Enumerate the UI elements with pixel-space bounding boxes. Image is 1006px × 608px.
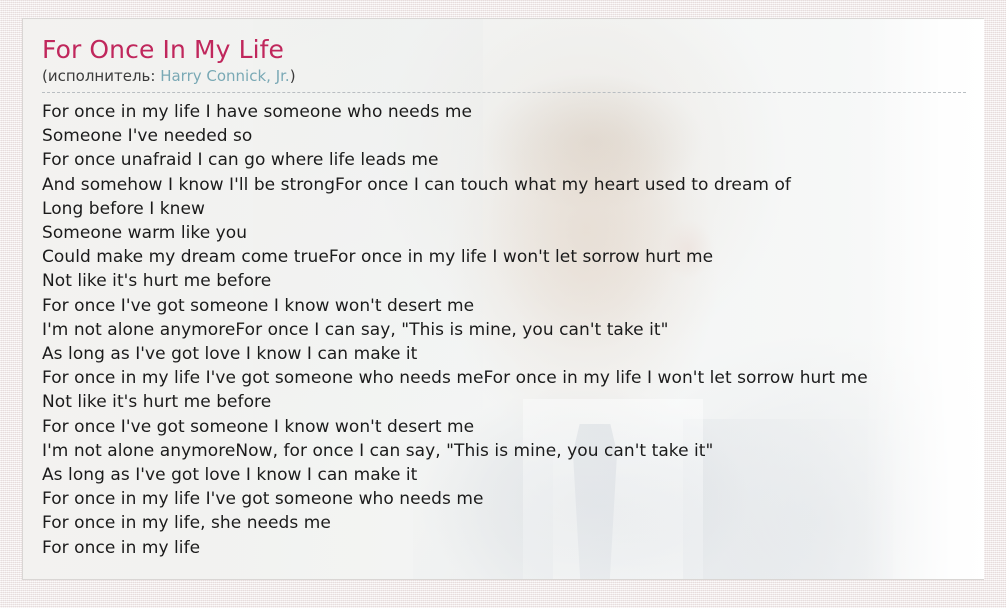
lyric-line: I'm not alone anymoreNow, for once I can… bbox=[42, 439, 984, 463]
lyrics-body: For once in my life I have someone who n… bbox=[42, 100, 984, 560]
lyric-line: Could make my dream come trueFor once in… bbox=[42, 245, 984, 269]
lyric-line: For once unafraid I can go where life le… bbox=[42, 148, 984, 172]
lyric-line: Not like it's hurt me before bbox=[42, 390, 984, 414]
song-header: For Once In My Life (исполнитель: Harry … bbox=[42, 35, 984, 86]
page-frame: For Once In My Life (исполнитель: Harry … bbox=[0, 0, 1006, 608]
lyric-line: And somehow I know I'll be strongFor onc… bbox=[42, 173, 984, 197]
lyric-line: Someone warm like you bbox=[42, 221, 984, 245]
lyric-line: For once I've got someone I know won't d… bbox=[42, 415, 984, 439]
lyric-line: Not like it's hurt me before bbox=[42, 269, 984, 293]
lyric-line: For once in my life I've got someone who… bbox=[42, 366, 984, 390]
lyric-line: As long as I've got love I know I can ma… bbox=[42, 342, 984, 366]
lyric-line: I'm not alone anymoreFor once I can say,… bbox=[42, 318, 984, 342]
song-content-panel: For Once In My Life (исполнитель: Harry … bbox=[22, 18, 984, 580]
lyric-line: Long before I knew bbox=[42, 197, 984, 221]
lyric-line: As long as I've got love I know I can ma… bbox=[42, 463, 984, 487]
lyric-line: For once I've got someone I know won't d… bbox=[42, 294, 984, 318]
lyric-line: Someone I've needed so bbox=[42, 124, 984, 148]
artist-suffix-label: ) bbox=[290, 67, 296, 85]
lyric-line: For once in my life I've got someone who… bbox=[42, 487, 984, 511]
page-title: For Once In My Life bbox=[42, 35, 984, 65]
lyric-line: For once in my life, she needs me bbox=[42, 511, 984, 535]
artist-credit: (исполнитель: Harry Connick, Jr.) bbox=[42, 66, 984, 86]
lyric-line: For once in my life I have someone who n… bbox=[42, 100, 984, 124]
artist-link[interactable]: Harry Connick, Jr. bbox=[160, 67, 289, 85]
header-divider bbox=[42, 92, 966, 93]
artist-prefix-label: (исполнитель: bbox=[42, 67, 160, 85]
lyric-line: For once in my life bbox=[42, 536, 984, 560]
